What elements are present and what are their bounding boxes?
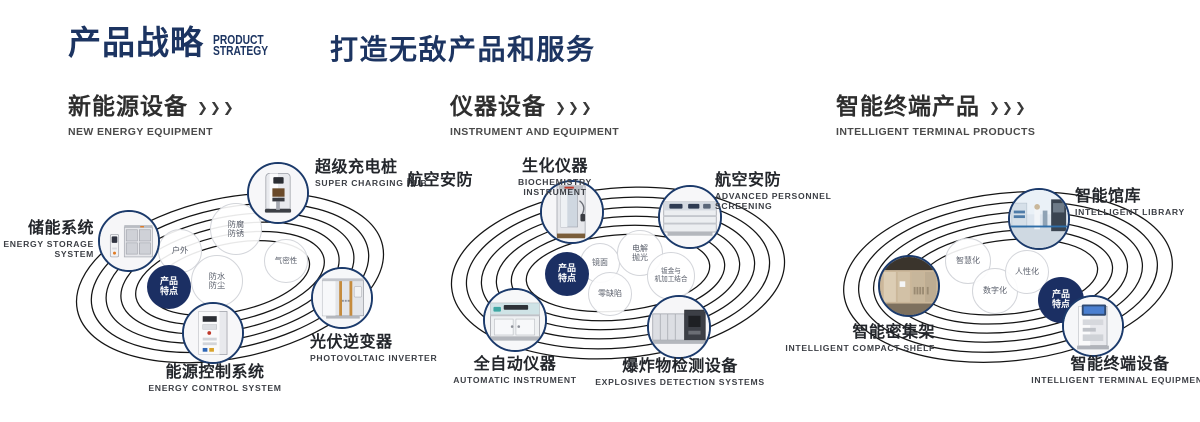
label-explosives-detection-systems: 爆炸物检测设备 EXPLOSIVES DETECTION SYSTEMS (595, 357, 765, 387)
label-intelligent-library: 智能馆库 INTELLIGENT LIBRARY (1075, 187, 1200, 217)
chevron-right-icon: ❯❯❯ (197, 101, 234, 114)
node-label-en: BIOCHEMISTRY INSTRUMENT (485, 177, 625, 198)
cluster-intelligent-terminal-products: 智慧化 数字化 人性化 产品 特点 (820, 155, 1200, 395)
compact-shelf-icon (880, 257, 938, 315)
chevron-right-icon: ❯❯❯ (989, 101, 1026, 114)
explosive-detector-icon (649, 297, 709, 357)
node-label-en: INTELLIGENT COMPACT SHELF (760, 343, 935, 354)
label-automatic-instrument: 全自动仪器 AUTOMATIC INSTRUMENT (435, 355, 595, 385)
section-title-cn: 新能源设备 (68, 96, 188, 119)
node-intelligent-library[interactable] (1008, 188, 1070, 250)
label-energy-control-system: 能源控制系统 ENERGY CONTROL SYSTEM (105, 363, 325, 393)
section-title-en: INTELLIGENT TERMINAL PRODUCTS (836, 126, 1035, 138)
feature-bubble-text: 电解 (632, 244, 648, 253)
section-title-instrument: 仪器设备 ❯❯❯ INSTRUMENT AND EQUIPMENT (450, 96, 619, 138)
node-label-cn: 爆炸物检测设备 (595, 357, 765, 375)
page-slogan: 打造无敌产品和服务 (330, 36, 596, 64)
kiosk-terminal-icon (1064, 297, 1122, 355)
feature-bubble-text: 镜面 (592, 258, 608, 267)
node-label-cn: 智能密集架 (760, 323, 935, 341)
label-intelligent-terminal-equipment: 智能终端设备 INTELLIGENT TERMINAL EQUIPMENT (1020, 355, 1200, 385)
node-label-cn: 航空安防 (407, 171, 497, 189)
feature-bubble-text: 零缺陷 (598, 289, 622, 298)
node-label-cn: 能源控制系统 (105, 363, 325, 381)
node-label-cn: 生化仪器 (485, 157, 625, 175)
feature-bubble-text-2: 防尘 (209, 281, 225, 290)
product-strategy-infographic: 产品战略 PRODUCT STRATEGY 打造无敌产品和服务 新能源设备 ❯❯… (0, 0, 1200, 422)
node-label-en: ENERGY CONTROL SYSTEM (105, 383, 325, 394)
section-title-intelligent: 智能终端产品 ❯❯❯ INTELLIGENT TERMINAL PRODUCTS (836, 96, 1035, 138)
label-biochemistry-instrument: 生化仪器 BIOCHEMISTRY INSTRUMENT (485, 157, 625, 198)
node-advanced-personnel-screening[interactable] (658, 185, 722, 249)
label-energy-storage-system: 储能系统 ENERGY STORAGE SYSTEM (0, 219, 94, 260)
node-label-en: INTELLIGENT TERMINAL EQUIPMENT (1020, 375, 1200, 386)
node-label-cn: 储能系统 (0, 219, 94, 237)
feature-bubble-text: 人性化 (1015, 267, 1039, 276)
feature-bubble: 零缺陷 (588, 272, 632, 316)
section-title-en: INSTRUMENT AND EQUIPMENT (450, 126, 619, 138)
node-automatic-instrument[interactable] (483, 288, 547, 352)
core-bubble-line2: 特点 (160, 287, 178, 297)
feature-bubble-text-2: 机加工结合 (655, 276, 688, 284)
node-label-cn: 智能终端设备 (1020, 355, 1200, 373)
node-label-en: EXPLOSIVES DETECTION SYSTEMS (595, 377, 765, 388)
chevron-right-icon: ❯❯❯ (555, 101, 592, 114)
feature-bubble: 气密性 (264, 239, 308, 283)
section-title-en: NEW ENERGY EQUIPMENT (68, 126, 234, 138)
node-label-cn: 全自动仪器 (435, 355, 595, 373)
node-explosives-detection-systems[interactable] (647, 295, 711, 359)
section-title-new-energy: 新能源设备 ❯❯❯ NEW ENERGY EQUIPMENT (68, 96, 234, 138)
library-room-icon (1010, 190, 1068, 248)
section-title-cn: 智能终端产品 (836, 96, 980, 119)
core-bubble-product-features: 产品 特点 (545, 252, 589, 296)
page-title-en-line2: STRATEGY (213, 46, 268, 57)
feature-bubble: 钣金与 机加工结合 (647, 252, 695, 300)
core-bubble-line1: 产品 (558, 264, 576, 274)
page-title-cn: 产品战略 (68, 26, 204, 59)
charging-pile-icon (249, 164, 307, 222)
energy-storage-cabinet-icon (100, 212, 158, 270)
node-label-en: INTELLIGENT LIBRARY (1075, 207, 1200, 218)
page-title-en: PRODUCT STRATEGY (213, 35, 268, 57)
feature-bubble-text: 气密性 (275, 257, 298, 266)
feature-bubble-text: 数字化 (983, 286, 1007, 295)
core-bubble-line1: 产品 (160, 277, 178, 287)
page-title: 产品战略 PRODUCT STRATEGY (68, 26, 280, 59)
section-title-cn: 仪器设备 (450, 96, 546, 119)
feature-bubble-text: 智慧化 (956, 256, 980, 265)
label-intelligent-compact-shelf: 智能密集架 INTELLIGENT COMPACT SHELF (760, 323, 935, 353)
feature-bubble-text: 户外 (172, 246, 188, 255)
node-intelligent-compact-shelf[interactable] (878, 255, 940, 317)
label-aviation-security-left: 航空安防 (407, 171, 497, 189)
node-energy-storage-system[interactable] (98, 210, 160, 272)
automatic-analyzer-icon (485, 290, 545, 350)
control-cabinet-icon (184, 304, 242, 362)
node-intelligent-terminal-equipment[interactable] (1062, 295, 1124, 357)
pv-inverter-cabinet-icon (313, 269, 371, 327)
cluster-instrument-and-equipment: 镜面 电解 抛光 零缺陷 钣金与 机加工结合 产品 特点 航空安防 (425, 155, 805, 385)
screening-machine-icon (660, 187, 720, 247)
node-label-en: AUTOMATIC INSTRUMENT (435, 375, 595, 386)
node-photovoltaic-inverter[interactable] (311, 267, 373, 329)
node-energy-control-system[interactable] (182, 302, 244, 364)
node-label-en: ENERGY STORAGE SYSTEM (0, 239, 94, 260)
feature-bubble-text-2: 防锈 (228, 229, 244, 238)
cluster-new-energy-equipment: 户外 防腐 防锈 防水 防尘 气密性 产品 特点 (40, 155, 420, 385)
node-super-charging-hub[interactable] (247, 162, 309, 224)
core-bubble-product-features: 产品 特点 (147, 265, 191, 309)
feature-bubble: 防水 防尘 (191, 255, 243, 307)
core-bubble-line2: 特点 (558, 274, 576, 284)
node-label-cn: 智能馆库 (1075, 187, 1200, 205)
feature-bubble-text-2: 抛光 (632, 253, 648, 262)
